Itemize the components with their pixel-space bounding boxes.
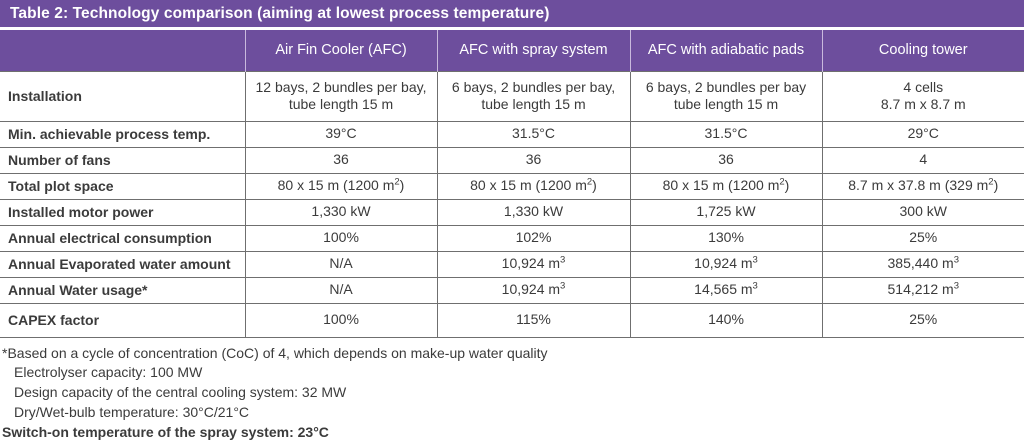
cell-line: 8.7 m x 37.8 m (329 m2)	[831, 177, 1017, 195]
table-cell: 130%	[630, 225, 822, 251]
table-cell: 102%	[437, 225, 630, 251]
table-cell: 140%	[630, 303, 822, 337]
cell-line: 29°C	[831, 125, 1017, 143]
table-cell: N/A	[245, 277, 437, 303]
cell-line: 115%	[446, 311, 622, 329]
table-row: Installation12 bays, 2 bundles per bay,t…	[0, 71, 1024, 121]
table-cell: 31.5°C	[437, 121, 630, 147]
cell-line: 31.5°C	[639, 125, 814, 143]
cell-line: N/A	[254, 255, 429, 273]
cell-line: 39°C	[254, 125, 429, 143]
table-header-row: Air Fin Cooler (AFC) AFC with spray syst…	[0, 30, 1024, 71]
table-body: Installation12 bays, 2 bundles per bay,t…	[0, 71, 1024, 337]
table-row: Annual Water usage*N/A10,924 m314,565 m3…	[0, 277, 1024, 303]
table-cell: 36	[437, 147, 630, 173]
row-label: CAPEX factor	[0, 303, 245, 337]
footnote-line: Switch-on temperature of the spray syste…	[2, 423, 1024, 443]
cell-line: 140%	[639, 311, 814, 329]
page-title: Table 2: Technology comparison (aiming a…	[10, 5, 549, 23]
cell-line: 80 x 15 m (1200 m2)	[254, 177, 429, 195]
table-cell: 6 bays, 2 bundles per baytube length 15 …	[630, 71, 822, 121]
cell-line: 102%	[446, 229, 622, 247]
table-cell: 10,924 m3	[630, 251, 822, 277]
footnote-line: *Based on a cycle of concentration (CoC)…	[2, 344, 1024, 364]
column-header-afc-adiabatic: AFC with adiabatic pads	[630, 30, 822, 71]
cell-line: 80 x 15 m (1200 m2)	[446, 177, 622, 195]
cell-line: 1,725 kW	[639, 203, 814, 221]
cell-line: tube length 15 m	[639, 96, 814, 114]
cell-line: 385,440 m3	[831, 255, 1017, 273]
cell-line: 100%	[254, 229, 429, 247]
row-label: Annual Water usage*	[0, 277, 245, 303]
table-cell: 514,212 m3	[822, 277, 1024, 303]
cell-line: 100%	[254, 311, 429, 329]
table-cell: 36	[630, 147, 822, 173]
table-cell: 300 kW	[822, 199, 1024, 225]
table-cell: 8.7 m x 37.8 m (329 m2)	[822, 173, 1024, 199]
table-cell: 29°C	[822, 121, 1024, 147]
cell-line: 4	[831, 151, 1017, 169]
table-cell: 4 cells8.7 m x 8.7 m	[822, 71, 1024, 121]
cell-line: 10,924 m3	[639, 255, 814, 273]
row-label: Number of fans	[0, 147, 245, 173]
cell-line: 1,330 kW	[446, 203, 622, 221]
cell-line: 10,924 m3	[446, 281, 622, 299]
row-label: Min. achievable process temp.	[0, 121, 245, 147]
cell-line: 36	[254, 151, 429, 169]
cell-line: 12 bays, 2 bundles per bay,	[254, 79, 429, 97]
cell-line: 14,565 m3	[639, 281, 814, 299]
cell-line: 25%	[831, 229, 1017, 247]
table-cell: 10,924 m3	[437, 277, 630, 303]
table-cell: 25%	[822, 303, 1024, 337]
table-cell: 4	[822, 147, 1024, 173]
table-cell: 10,924 m3	[437, 251, 630, 277]
table-cell: 385,440 m3	[822, 251, 1024, 277]
footnotes-block: *Based on a cycle of concentration (CoC)…	[0, 338, 1024, 443]
table-cell: 39°C	[245, 121, 437, 147]
table-cell: 31.5°C	[630, 121, 822, 147]
table-cell: 1,330 kW	[245, 199, 437, 225]
cell-line: 25%	[831, 311, 1017, 329]
cell-line: 6 bays, 2 bundles per bay	[639, 79, 814, 97]
table-cell: 25%	[822, 225, 1024, 251]
table-cell: 6 bays, 2 bundles per bay,tube length 15…	[437, 71, 630, 121]
table-cell: 80 x 15 m (1200 m2)	[245, 173, 437, 199]
table-cell: 36	[245, 147, 437, 173]
table-row: Total plot space80 x 15 m (1200 m2)80 x …	[0, 173, 1024, 199]
table-row: Installed motor power1,330 kW1,330 kW1,7…	[0, 199, 1024, 225]
cell-line: tube length 15 m	[254, 96, 429, 114]
row-label: Installed motor power	[0, 199, 245, 225]
cell-line: 130%	[639, 229, 814, 247]
table-title-bar: Table 2: Technology comparison (aiming a…	[0, 0, 1024, 27]
column-header-cooling-tower: Cooling tower	[822, 30, 1024, 71]
table-row: Number of fans3636364	[0, 147, 1024, 173]
table-figure: Table 2: Technology comparison (aiming a…	[0, 0, 1024, 438]
table-cell: 115%	[437, 303, 630, 337]
cell-line: 1,330 kW	[254, 203, 429, 221]
table-cell: 100%	[245, 225, 437, 251]
cell-line: 10,924 m3	[446, 255, 622, 273]
table-row: Annual electrical consumption100%102%130…	[0, 225, 1024, 251]
footnote-line: Design capacity of the central cooling s…	[2, 383, 1024, 403]
cell-line: 6 bays, 2 bundles per bay,	[446, 79, 622, 97]
cell-line: 36	[446, 151, 622, 169]
table-cell: 1,330 kW	[437, 199, 630, 225]
cell-line: tube length 15 m	[446, 96, 622, 114]
column-header-afc: Air Fin Cooler (AFC)	[245, 30, 437, 71]
column-header-afc-spray: AFC with spray system	[437, 30, 630, 71]
cell-line: 4 cells	[831, 79, 1017, 97]
cell-line: 514,212 m3	[831, 281, 1017, 299]
table-row: CAPEX factor100%115%140%25%	[0, 303, 1024, 337]
technology-comparison-table: Air Fin Cooler (AFC) AFC with spray syst…	[0, 30, 1024, 338]
table-cell: 100%	[245, 303, 437, 337]
table-cell: 80 x 15 m (1200 m2)	[630, 173, 822, 199]
table-header: Air Fin Cooler (AFC) AFC with spray syst…	[0, 30, 1024, 71]
table-cell: 1,725 kW	[630, 199, 822, 225]
cell-line: 300 kW	[831, 203, 1017, 221]
footnote-line: Dry/Wet-bulb temperature: 30°C/21°C	[2, 403, 1024, 423]
row-label: Total plot space	[0, 173, 245, 199]
cell-line: 80 x 15 m (1200 m2)	[639, 177, 814, 195]
row-label: Installation	[0, 71, 245, 121]
row-label: Annual electrical consumption	[0, 225, 245, 251]
cell-line: 8.7 m x 8.7 m	[831, 96, 1017, 114]
table-cell: 80 x 15 m (1200 m2)	[437, 173, 630, 199]
header-corner-cell	[0, 30, 245, 71]
cell-line: N/A	[254, 281, 429, 299]
table-row: Min. achievable process temp.39°C31.5°C3…	[0, 121, 1024, 147]
footnote-line: Electrolyser capacity: 100 MW	[2, 363, 1024, 383]
table-cell: 14,565 m3	[630, 277, 822, 303]
cell-line: 36	[639, 151, 814, 169]
table-cell: 12 bays, 2 bundles per bay,tube length 1…	[245, 71, 437, 121]
table-row: Annual Evaporated water amountN/A10,924 …	[0, 251, 1024, 277]
row-label: Annual Evaporated water amount	[0, 251, 245, 277]
table-cell: N/A	[245, 251, 437, 277]
cell-line: 31.5°C	[446, 125, 622, 143]
